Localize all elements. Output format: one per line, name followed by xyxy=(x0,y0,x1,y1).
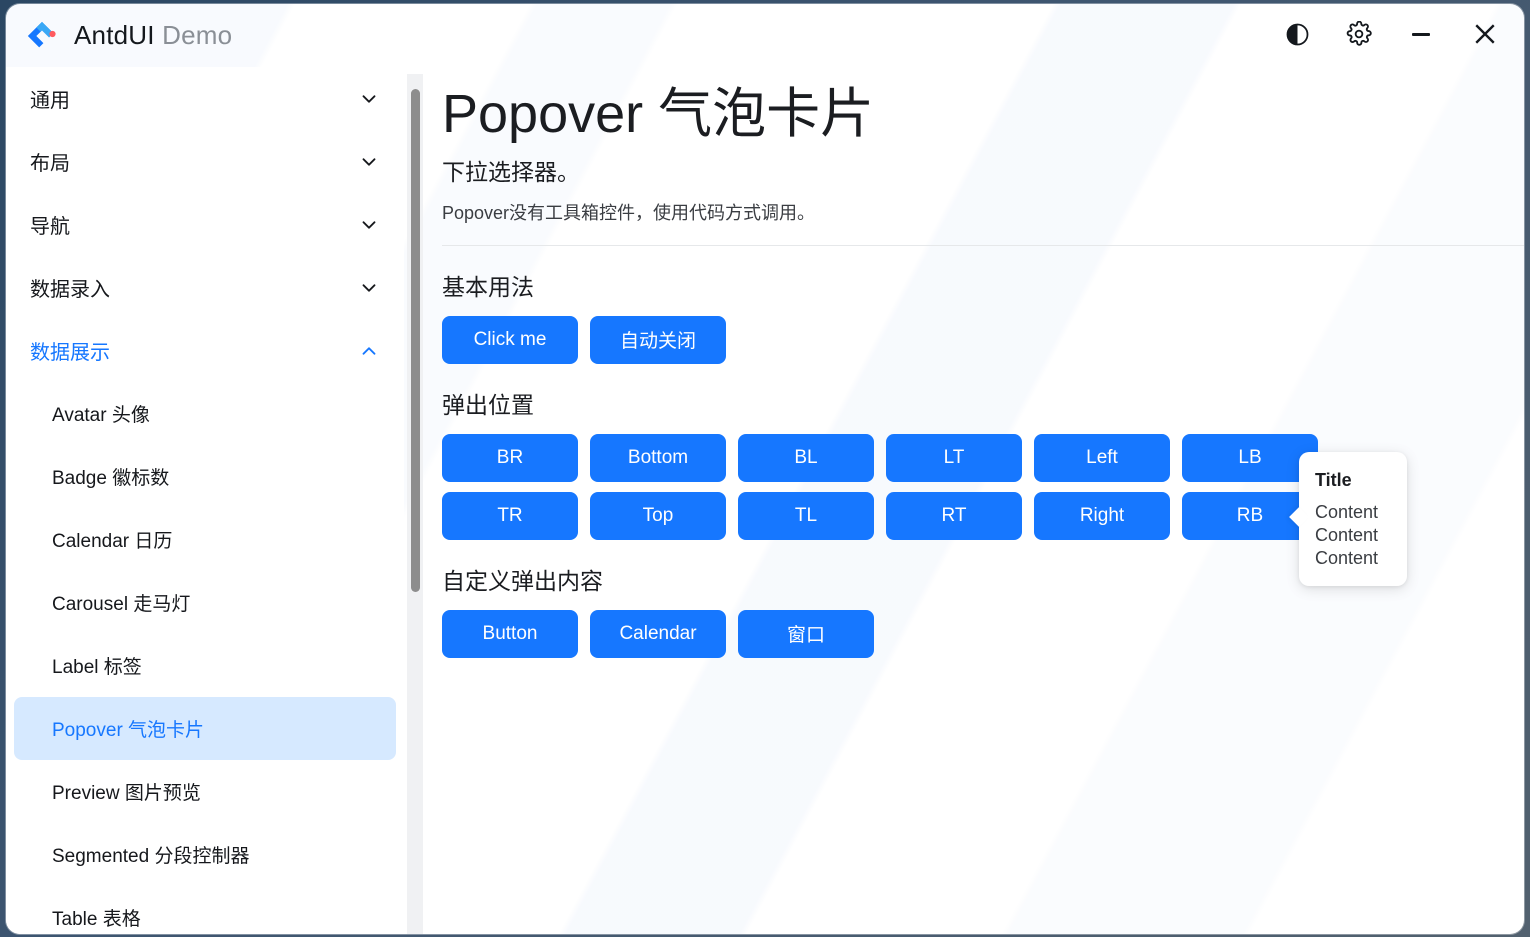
sidebar-group-label: 布局 xyxy=(30,147,358,176)
settings-button[interactable] xyxy=(1328,4,1390,67)
popover-content-line: Content xyxy=(1315,524,1391,547)
section-title-1: 弹出位置 xyxy=(442,386,1524,420)
action-button[interactable]: BR xyxy=(442,434,578,482)
sidebar-item-label: Badge 徽标数 xyxy=(52,463,169,490)
sidebar-item-3[interactable]: Carousel 走马灯 xyxy=(14,571,396,634)
sidebar-group-label: 通用 xyxy=(30,84,358,113)
app-window: AntdUI Demo xyxy=(6,4,1524,934)
button-row: Click me自动关闭 xyxy=(442,316,1524,364)
sidebar-scrollbar-thumb[interactable] xyxy=(411,89,420,592)
action-button[interactable]: 自动关闭 xyxy=(590,316,726,364)
sidebar-item-8[interactable]: Table 表格 xyxy=(14,886,396,934)
popover-title: Title xyxy=(1315,470,1391,491)
action-button[interactable]: RT xyxy=(886,492,1022,540)
chevron-down-icon[interactable] xyxy=(358,88,380,110)
sidebar-item-label: Carousel 走马灯 xyxy=(52,589,190,616)
action-button[interactable]: 窗口 xyxy=(738,610,874,658)
popover-content-line: Content xyxy=(1315,547,1391,570)
sidebar-group-label: 导航 xyxy=(30,210,358,239)
sidebar[interactable]: 通用布局导航数据录入数据展示Avatar 头像Badge 徽标数Calendar… xyxy=(6,67,404,934)
sidebar-item-label: Avatar 头像 xyxy=(52,400,150,427)
sidebar-item-6[interactable]: Preview 图片预览 xyxy=(14,760,396,823)
sidebar-group-label: 数据展示 xyxy=(30,336,358,365)
sidebar-item-label: Table 表格 xyxy=(52,904,141,931)
action-button[interactable]: LT xyxy=(886,434,1022,482)
sidebar-group-1[interactable]: 布局 xyxy=(6,130,404,193)
popover-content-line: Content xyxy=(1315,501,1391,524)
app-brand: AntdUI Demo xyxy=(6,18,232,54)
chevron-down-icon[interactable] xyxy=(358,151,380,173)
sidebar-item-7[interactable]: Segmented 分段控制器 xyxy=(14,823,396,886)
popover-card: Title ContentContentContent xyxy=(1299,452,1407,586)
close-icon xyxy=(1470,19,1500,52)
action-button[interactable]: Click me xyxy=(442,316,578,364)
sidebar-group-label: 数据录入 xyxy=(30,273,358,302)
app-name: AntdUI xyxy=(74,20,155,50)
action-button[interactable]: BL xyxy=(738,434,874,482)
chevron-up-icon[interactable] xyxy=(358,340,380,362)
sidebar-item-label: Popover 气泡卡片 xyxy=(52,715,204,742)
sidebar-item-5[interactable]: Popover 气泡卡片 xyxy=(14,697,396,760)
window-controls xyxy=(1266,4,1524,67)
sidebar-group-3[interactable]: 数据录入 xyxy=(6,256,404,319)
gear-icon xyxy=(1346,21,1372,50)
action-button[interactable]: Right xyxy=(1034,492,1170,540)
header-divider xyxy=(442,245,1524,246)
action-button[interactable]: TL xyxy=(738,492,874,540)
action-button[interactable]: Button xyxy=(442,610,578,658)
action-button[interactable]: TR xyxy=(442,492,578,540)
sidebar-group-4[interactable]: 数据展示 xyxy=(6,319,404,382)
sidebar-group-0[interactable]: 通用 xyxy=(6,67,404,130)
action-button[interactable]: Left xyxy=(1034,434,1170,482)
main-content: Popover 气泡卡片 下拉选择器。 Popover没有工具箱控件，使用代码方… xyxy=(430,67,1524,934)
sidebar-item-2[interactable]: Calendar 日历 xyxy=(14,508,396,571)
action-button[interactable]: Bottom xyxy=(590,434,726,482)
antdui-logo-icon xyxy=(24,18,60,54)
sidebar-item-1[interactable]: Badge 徽标数 xyxy=(14,445,396,508)
sidebar-item-label: Label 标签 xyxy=(52,652,142,679)
action-button[interactable]: LB xyxy=(1182,434,1318,482)
page-subtitle: 下拉选择器。 xyxy=(442,153,1524,187)
section-title-0: 基本用法 xyxy=(442,268,1524,302)
sidebar-item-label: Calendar 日历 xyxy=(52,526,172,553)
half-circle-contrast-icon xyxy=(1285,22,1310,50)
sidebar-item-label: Preview 图片预览 xyxy=(52,778,201,805)
page-title: Popover 气泡卡片 xyxy=(442,81,1524,149)
chevron-down-icon[interactable] xyxy=(358,277,380,299)
chevron-down-icon[interactable] xyxy=(358,214,380,236)
minimize-button[interactable] xyxy=(1390,4,1452,67)
app-suffix: Demo xyxy=(162,20,232,50)
close-button[interactable] xyxy=(1452,4,1524,67)
sidebar-group-2[interactable]: 导航 xyxy=(6,193,404,256)
page-description: Popover没有工具箱控件，使用代码方式调用。 xyxy=(442,199,1524,225)
action-button[interactable]: Top xyxy=(590,492,726,540)
button-row: ButtonCalendar窗口 xyxy=(442,610,1524,658)
minimize-icon xyxy=(1407,20,1435,51)
sidebar-item-4[interactable]: Label 标签 xyxy=(14,634,396,697)
title-bar: AntdUI Demo xyxy=(6,4,1524,67)
sidebar-item-0[interactable]: Avatar 头像 xyxy=(14,382,396,445)
sidebar-item-label: Segmented 分段控制器 xyxy=(52,841,249,868)
action-button[interactable]: Calendar xyxy=(590,610,726,658)
theme-toggle-button[interactable] xyxy=(1266,4,1328,67)
app-title: AntdUI Demo xyxy=(74,20,232,51)
